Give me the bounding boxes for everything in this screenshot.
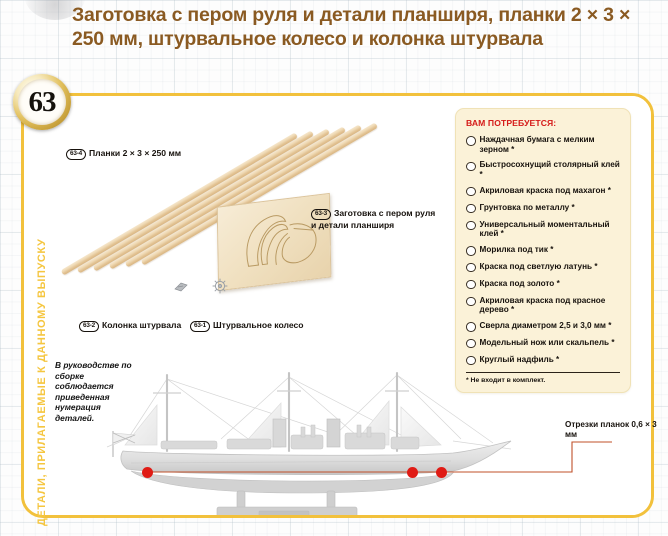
part-badge-63-2: 63-2 xyxy=(79,321,99,332)
marker-dot-3 xyxy=(436,467,447,478)
checkbox-circle-icon[interactable] xyxy=(466,162,476,172)
requirements-footnote: * Не входит в комплект. xyxy=(466,377,620,384)
page-background: Заготовка с пером руля и детали планширя… xyxy=(0,0,668,536)
marker-dot-1 xyxy=(142,467,153,478)
requirement-item-label: Акриловая краска под красное дерево * xyxy=(480,296,621,315)
part-label-63-3: 63-3Заготовка с пером руля и детали план… xyxy=(311,208,441,231)
part-badge-63-3: 63-3 xyxy=(311,209,331,220)
requirement-item-label: Грунтовка по металлу * xyxy=(480,203,575,213)
part-badge-63-1: 63-1 xyxy=(190,321,210,332)
checkbox-circle-icon[interactable] xyxy=(466,204,476,214)
part-label-63-4-text: Планки 2 × 3 × 250 мм xyxy=(89,148,181,158)
ships-wheel-photo xyxy=(211,277,229,300)
checkbox-circle-icon[interactable] xyxy=(466,136,476,146)
checkbox-circle-icon[interactable] xyxy=(466,246,476,256)
requirements-divider xyxy=(466,372,620,373)
requirement-item-label: Быстросохнущий столярный клей * xyxy=(480,160,621,179)
page-number: 63 xyxy=(29,86,56,119)
requirement-item[interactable]: Морилка под тик * xyxy=(466,245,620,256)
requirements-box: ВАМ ПОТРЕБУЕТСЯ: Наждачная бумага с мелк… xyxy=(455,108,631,393)
helm-column-photo xyxy=(172,280,190,299)
requirement-item-label: Универсальный моментальный клей * xyxy=(480,220,621,239)
requirement-item[interactable]: Акриловая краска под красное дерево * xyxy=(466,296,620,315)
requirement-item[interactable]: Грунтовка по металлу * xyxy=(466,203,620,214)
requirement-item-label: Акриловая краска под махагон * xyxy=(480,186,611,196)
requirement-item-label: Краска под золото * xyxy=(480,279,560,289)
requirement-item[interactable]: Сверла диаметром 2,5 и 3,0 мм * xyxy=(466,321,620,332)
part-badge-63-4: 63-4 xyxy=(66,149,86,160)
requirement-item-label: Круглый надфиль * xyxy=(480,355,560,365)
issue-side-caption: ДЕТАЛИ, ПРИЛАГАЕМЫЕ К ДАННОМУ ВЫПУСКУ xyxy=(36,146,48,526)
checkbox-circle-icon[interactable] xyxy=(466,263,476,273)
marker-dot-2 xyxy=(407,467,418,478)
checkbox-circle-icon[interactable] xyxy=(466,356,476,366)
checkbox-circle-icon[interactable] xyxy=(466,297,476,307)
requirement-item-label: Краска под светлую латунь * xyxy=(480,262,598,272)
requirement-item[interactable]: Акриловая краска под махагон * xyxy=(466,186,620,197)
part-label-63-1: 63-1Штурвальное колесо xyxy=(190,320,304,332)
requirement-item[interactable]: Модельный нож или скальпель * xyxy=(466,338,620,349)
requirements-list: Наждачная бумага с мелким зерном *Быстро… xyxy=(466,135,620,365)
requirement-item-label: Сверла диаметром 2,5 и 3,0 мм * xyxy=(480,321,612,331)
requirement-item[interactable]: Универсальный моментальный клей * xyxy=(466,220,620,239)
requirements-title: ВАМ ПОТРЕБУЕТСЯ: xyxy=(466,118,620,128)
checkbox-circle-icon[interactable] xyxy=(466,187,476,197)
checkbox-circle-icon[interactable] xyxy=(466,280,476,290)
callout-leader-line xyxy=(142,440,612,504)
requirement-item-label: Морилка под тик * xyxy=(480,245,554,255)
requirement-item[interactable]: Краска под золото * xyxy=(466,279,620,290)
requirement-item-label: Наждачная бумага с мелким зерном * xyxy=(480,135,621,154)
checkbox-circle-icon[interactable] xyxy=(466,339,476,349)
page-title: Заготовка с пером руля и детали планширя… xyxy=(72,4,662,51)
requirement-item[interactable]: Круглый надфиль * xyxy=(466,355,620,366)
requirement-item-label: Модельный нож или скальпель * xyxy=(480,338,615,348)
requirement-item[interactable]: Наждачная бумага с мелким зерном * xyxy=(466,135,620,154)
checkbox-circle-icon[interactable] xyxy=(466,221,476,231)
part-label-63-2-text: Колонка штурвала xyxy=(102,320,181,330)
checkbox-circle-icon[interactable] xyxy=(466,322,476,332)
callout-label: Отрезки планок 0,6 × 3 мм xyxy=(565,420,665,440)
part-label-63-4: 63-4Планки 2 × 3 × 250 мм xyxy=(66,148,181,160)
part-label-63-1-text: Штурвальное колесо xyxy=(213,320,304,330)
part-label-63-2: 63-2Колонка штурвала xyxy=(79,320,181,332)
requirement-item[interactable]: Краска под светлую латунь * xyxy=(466,262,620,273)
requirement-item[interactable]: Быстросохнущий столярный клей * xyxy=(466,160,620,179)
page-number-badge: 63 xyxy=(13,74,71,130)
